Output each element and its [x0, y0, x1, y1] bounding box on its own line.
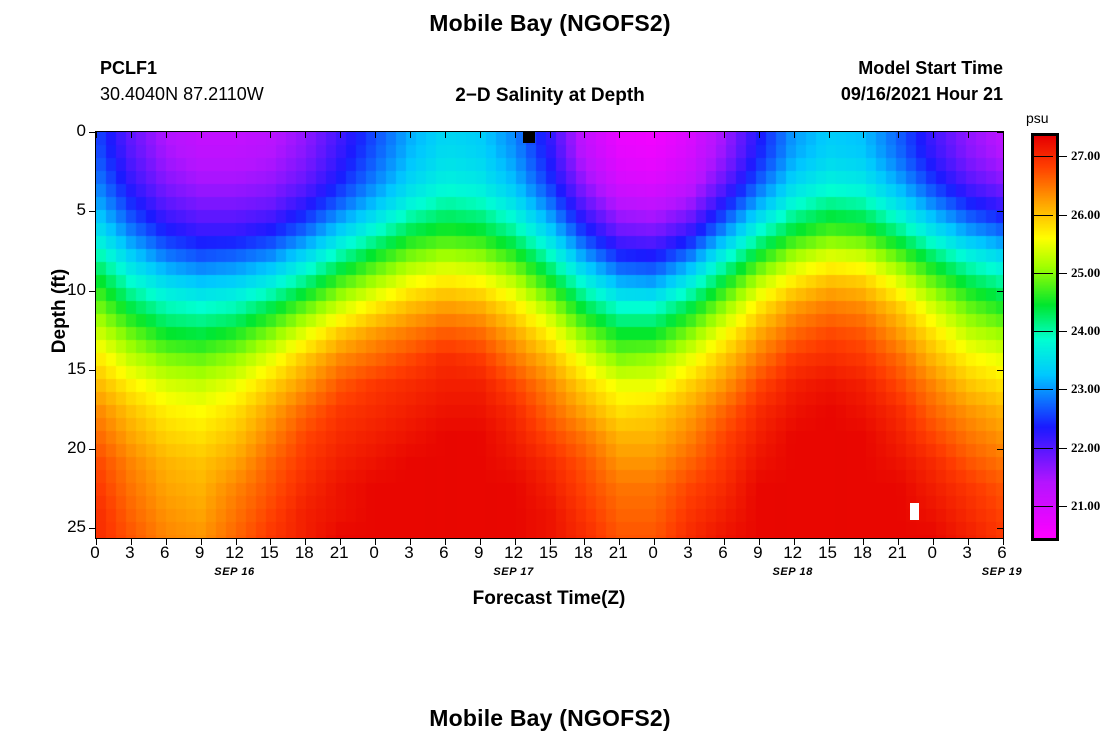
x-axis-tick-label: 18 — [853, 543, 872, 563]
colorbar-tick-label: 25.000 — [1071, 265, 1100, 281]
x-axis-tick-label: 6 — [439, 543, 448, 563]
x-axis-tick-label: 15 — [818, 543, 837, 563]
colorbar-tick-mark — [1056, 331, 1067, 332]
y-axis-tick-label: 25 — [67, 517, 86, 537]
x-axis-tick — [619, 132, 620, 138]
x-axis-tick-label: 21 — [330, 543, 349, 563]
y-axis-tick — [89, 528, 96, 529]
y-axis-tick — [89, 132, 96, 133]
x-axis-tick-label: 21 — [609, 543, 628, 563]
colorbar-tick-mark — [1056, 156, 1067, 157]
x-axis-tick — [340, 132, 341, 138]
x-axis-tick-label: 18 — [295, 543, 314, 563]
x-axis-tick-labels: 036912151821036912151821036912151821036 — [95, 543, 1003, 565]
x-axis-tick-label: 6 — [160, 543, 169, 563]
colorbar-tick-mark — [1056, 215, 1067, 216]
y-axis-tick — [997, 528, 1003, 529]
colorbar-tick-mark — [1056, 506, 1067, 507]
page-title: Mobile Bay (NGOFS2) — [0, 10, 1100, 37]
x-axis-tick — [724, 132, 725, 138]
y-axis-tick — [997, 370, 1003, 371]
y-axis-tick — [89, 370, 96, 371]
x-axis-tick-label: 3 — [125, 543, 134, 563]
x-axis-tick — [654, 132, 655, 138]
salinity-heatmap-plot — [95, 131, 1004, 539]
x-axis-tick — [584, 132, 585, 138]
x-axis-tick-label: 15 — [539, 543, 558, 563]
colorbar-tick-label: 22.000 — [1071, 440, 1100, 456]
colorbar-tick-label: 23.000 — [1071, 381, 1100, 397]
x-axis-tick — [759, 132, 760, 138]
y-axis-tick — [89, 449, 96, 450]
x-axis-tick — [445, 132, 446, 138]
x-axis-tick-label: 9 — [195, 543, 204, 563]
x-axis-tick-label: 3 — [962, 543, 971, 563]
colorbar-ticks: 27.00026.00025.00024.00023.00022.00021.0… — [1031, 133, 1100, 535]
x-axis-tick — [236, 132, 237, 138]
y-axis-tick-label: 20 — [67, 438, 86, 458]
x-axis-tick — [550, 132, 551, 138]
x-axis-day-label: SEP 16 — [214, 566, 255, 578]
x-axis-tick — [863, 132, 864, 138]
x-axis-tick — [270, 132, 271, 138]
footer-title: Mobile Bay (NGOFS2) — [0, 705, 1100, 732]
x-axis-day-label: SEP 19 — [982, 566, 1023, 578]
x-axis-day-label: SEP 17 — [493, 566, 534, 578]
x-axis-title: Forecast Time(Z) — [95, 588, 1003, 610]
colorbar-tick-inner — [1031, 156, 1053, 157]
x-axis-day-label: SEP 18 — [772, 566, 813, 578]
colorbar-tick-label: 26.000 — [1071, 207, 1100, 223]
x-axis-tick — [1003, 132, 1004, 138]
x-axis-tick-label: 21 — [888, 543, 907, 563]
x-axis-tick — [305, 132, 306, 138]
x-axis-tick-label: 3 — [683, 543, 692, 563]
x-axis-tick-label: 12 — [783, 543, 802, 563]
colorbar-tick-mark — [1056, 273, 1067, 274]
x-axis-day-labels: SEP 16SEP 17SEP 18SEP 19 — [95, 566, 1003, 584]
y-axis-tick — [997, 211, 1003, 212]
y-axis-tick-label: 5 — [77, 200, 86, 220]
y-axis-tick — [997, 291, 1003, 292]
bottom-observation-marker — [910, 503, 919, 520]
x-axis-tick-label: 0 — [648, 543, 657, 563]
colorbar-tick-inner — [1031, 273, 1053, 274]
colorbar-tick-label: 24.000 — [1071, 323, 1100, 339]
x-axis-tick — [480, 132, 481, 138]
y-axis-tick — [997, 449, 1003, 450]
x-axis-tick-label: 3 — [404, 543, 413, 563]
x-axis-tick — [515, 132, 516, 138]
colorbar-tick-inner — [1031, 506, 1053, 507]
x-axis-tick — [933, 132, 934, 138]
colorbar-tick-inner — [1031, 448, 1053, 449]
x-axis-tick-label: 15 — [260, 543, 279, 563]
y-axis-tick — [89, 211, 96, 212]
x-axis-tick — [375, 132, 376, 138]
colorbar-tick-label: 27.000 — [1071, 148, 1100, 164]
colorbar-tick-label: 21.000 — [1071, 498, 1100, 514]
x-axis-tick-label: 0 — [927, 543, 936, 563]
colorbar-tick-mark — [1056, 389, 1067, 390]
x-axis-tick — [96, 132, 97, 138]
x-axis-tick-label: 6 — [718, 543, 727, 563]
colorbar-tick-inner — [1031, 331, 1053, 332]
salinity-field-canvas — [96, 132, 1003, 538]
model-start-time-label: Model Start Time — [841, 56, 1003, 82]
x-axis-tick — [166, 132, 167, 138]
x-axis-tick-label: 0 — [90, 543, 99, 563]
colorbar-unit-label: psu — [1026, 110, 1049, 126]
x-axis-tick — [131, 132, 132, 138]
x-axis-tick-label: 9 — [474, 543, 483, 563]
y-axis-tick — [89, 291, 96, 292]
colorbar-tick-inner — [1031, 215, 1053, 216]
x-axis-tick-label: 9 — [753, 543, 762, 563]
x-axis-tick — [898, 132, 899, 138]
x-axis-tick — [968, 132, 969, 138]
x-axis-tick-label: 18 — [574, 543, 593, 563]
model-start-time-value: 09/16/2021 Hour 21 — [841, 82, 1003, 108]
x-axis-tick — [829, 132, 830, 138]
station-id: PCLF1 — [100, 56, 264, 82]
x-axis-tick — [689, 132, 690, 138]
x-axis-tick — [410, 132, 411, 138]
x-axis-tick-label: 12 — [225, 543, 244, 563]
x-axis-tick — [201, 132, 202, 138]
y-axis-title: Depth (ft) — [49, 241, 71, 381]
x-axis-tick-label: 12 — [504, 543, 523, 563]
colorbar-tick-mark — [1056, 448, 1067, 449]
y-axis-tick-label: 0 — [77, 121, 86, 141]
x-axis-tick — [794, 132, 795, 138]
model-info: Model Start Time 09/16/2021 Hour 21 — [841, 56, 1003, 107]
x-axis-tick-label: 0 — [369, 543, 378, 563]
colorbar-tick-inner — [1031, 389, 1053, 390]
surface-observation-marker — [523, 132, 535, 143]
x-axis-tick-label: 6 — [997, 543, 1006, 563]
